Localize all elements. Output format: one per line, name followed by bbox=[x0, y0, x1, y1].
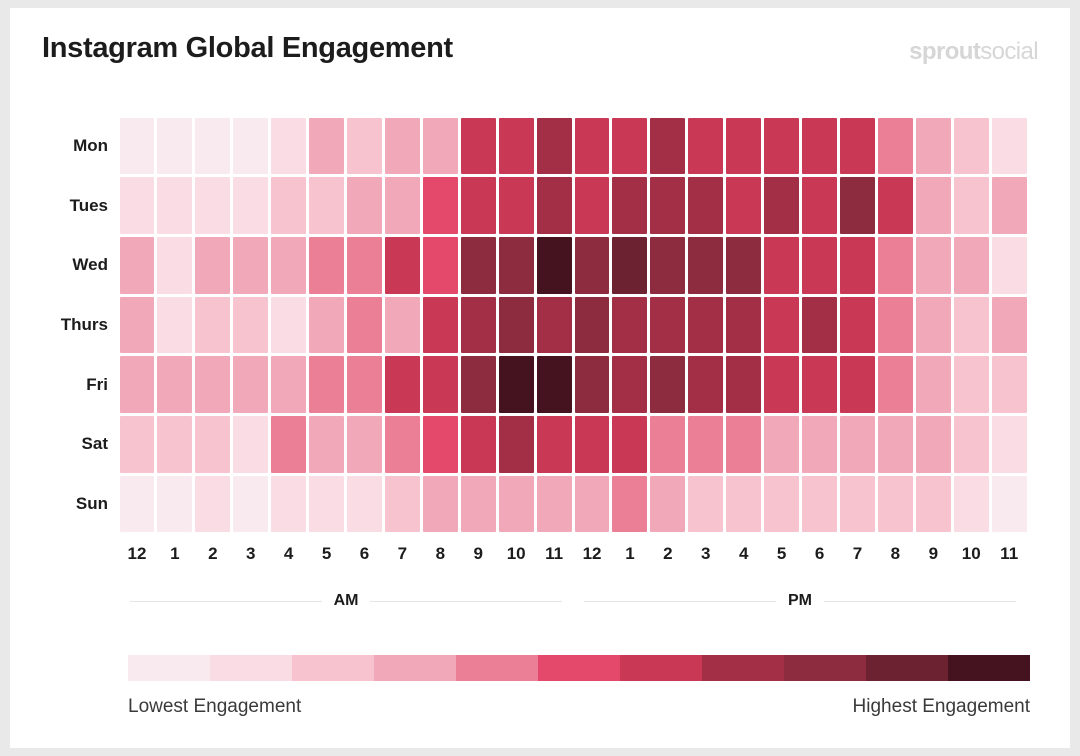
heatmap-cell bbox=[157, 118, 192, 175]
heatmap-cell bbox=[537, 297, 572, 354]
heatmap-cell bbox=[916, 237, 951, 294]
heatmap-cell bbox=[271, 177, 306, 234]
heatmap-cell bbox=[423, 237, 458, 294]
page-title: Instagram Global Engagement bbox=[42, 32, 453, 65]
heatmap-cell bbox=[575, 118, 610, 175]
heatmap-cell bbox=[612, 118, 647, 175]
heatmap-cell bbox=[423, 177, 458, 234]
legend-low-label: Lowest Engagement bbox=[128, 696, 301, 718]
legend-swatch bbox=[210, 655, 292, 681]
heatmap-cell bbox=[575, 416, 610, 473]
heatmap-cell bbox=[954, 237, 989, 294]
heatmap-cell bbox=[347, 177, 382, 234]
logo-regular-text: social bbox=[980, 38, 1038, 65]
heatmap-cell bbox=[461, 356, 496, 413]
heatmap-cell bbox=[764, 297, 799, 354]
am-rule-right bbox=[370, 601, 562, 602]
heatmap-cell bbox=[650, 476, 685, 533]
heatmap-cell bbox=[537, 177, 572, 234]
heatmap-cell bbox=[612, 237, 647, 294]
heatmap-cell bbox=[878, 118, 913, 175]
hour-tick: 9 bbox=[914, 544, 952, 578]
chart-header: Instagram Global Engagement sproutsocial bbox=[42, 32, 1038, 84]
heatmap-cell bbox=[461, 476, 496, 533]
heatmap-cell bbox=[233, 237, 268, 294]
heatmap-cell bbox=[461, 118, 496, 175]
heatmap-cell bbox=[461, 237, 496, 294]
heatmap-row: Tues bbox=[118, 176, 1028, 236]
hour-tick: 6 bbox=[801, 544, 839, 578]
hour-tick: 8 bbox=[421, 544, 459, 578]
heatmap-cell bbox=[726, 297, 761, 354]
am-group: AM bbox=[130, 588, 562, 614]
hour-tick: 4 bbox=[270, 544, 308, 578]
heatmap-cell bbox=[612, 416, 647, 473]
pm-label: PM bbox=[776, 592, 824, 610]
ampm-axis: AM PM bbox=[118, 588, 1028, 614]
heatmap-cell bbox=[688, 118, 723, 175]
heatmap-cell bbox=[764, 177, 799, 234]
heatmap-cell bbox=[233, 297, 268, 354]
heatmap-cell bbox=[195, 118, 230, 175]
heatmap-cell bbox=[650, 416, 685, 473]
heatmap-cell bbox=[120, 118, 155, 175]
hour-tick: 10 bbox=[952, 544, 990, 578]
heatmap-cell bbox=[575, 476, 610, 533]
heatmap-cell bbox=[157, 237, 192, 294]
hour-tick: 3 bbox=[687, 544, 725, 578]
heatmap-cell bbox=[537, 356, 572, 413]
heatmap-cell bbox=[878, 356, 913, 413]
hour-tick: 2 bbox=[649, 544, 687, 578]
heatmap-cell bbox=[537, 118, 572, 175]
am-rule-left bbox=[130, 601, 322, 602]
heatmap-cell bbox=[347, 356, 382, 413]
heatmap-cell bbox=[840, 416, 875, 473]
day-label-sat: Sat bbox=[22, 414, 108, 474]
heatmap-cell bbox=[423, 118, 458, 175]
heatmap-cell bbox=[195, 177, 230, 234]
heatmap-cell bbox=[575, 177, 610, 234]
heatmap-cell bbox=[233, 177, 268, 234]
heatmap-cell bbox=[954, 476, 989, 533]
heatmap-cell bbox=[840, 177, 875, 234]
hour-tick: 8 bbox=[876, 544, 914, 578]
legend-labels: Lowest Engagement Highest Engagement bbox=[128, 696, 1030, 724]
heatmap-cell bbox=[233, 118, 268, 175]
heatmap-cell bbox=[157, 297, 192, 354]
heatmap-cell bbox=[233, 356, 268, 413]
pm-rule-left bbox=[584, 601, 776, 602]
legend-swatch bbox=[948, 655, 1030, 681]
heatmap-cell bbox=[878, 177, 913, 234]
hour-tick: 5 bbox=[308, 544, 346, 578]
heatmap-cell bbox=[954, 416, 989, 473]
heatmap-cell bbox=[120, 476, 155, 533]
heatmap-cell bbox=[916, 476, 951, 533]
heatmap-cell bbox=[575, 297, 610, 354]
heatmap-cell bbox=[954, 356, 989, 413]
pm-group: PM bbox=[584, 588, 1016, 614]
hour-tick: 7 bbox=[383, 544, 421, 578]
heatmap-cell bbox=[650, 177, 685, 234]
heatmap-cell bbox=[309, 297, 344, 354]
heatmap-cell bbox=[423, 297, 458, 354]
day-label-thurs: Thurs bbox=[22, 295, 108, 355]
heatmap-row: Wed bbox=[118, 235, 1028, 295]
heatmap-cell bbox=[385, 177, 420, 234]
heatmap-row: Thurs bbox=[118, 295, 1028, 355]
heatmap-cell bbox=[802, 118, 837, 175]
legend-high-label: Highest Engagement bbox=[853, 696, 1030, 718]
sprout-social-logo: sproutsocial bbox=[909, 38, 1038, 66]
hour-tick: 10 bbox=[497, 544, 535, 578]
heatmap-cell bbox=[878, 416, 913, 473]
heatmap-cell bbox=[992, 177, 1027, 234]
heatmap-cell bbox=[840, 118, 875, 175]
heatmap-cell bbox=[347, 237, 382, 294]
hour-tick: 12 bbox=[573, 544, 611, 578]
heatmap-cell bbox=[385, 118, 420, 175]
day-label-tues: Tues bbox=[22, 176, 108, 236]
heatmap-cell bbox=[120, 416, 155, 473]
heatmap-cell bbox=[992, 118, 1027, 175]
legend-swatch bbox=[456, 655, 538, 681]
heatmap-cell bbox=[499, 177, 534, 234]
day-label-sun: Sun bbox=[22, 474, 108, 534]
heatmap-cell bbox=[688, 356, 723, 413]
heatmap-cell bbox=[650, 356, 685, 413]
hour-tick: 7 bbox=[839, 544, 877, 578]
heatmap-cell bbox=[840, 356, 875, 413]
heatmap-cell bbox=[461, 177, 496, 234]
heatmap-cell bbox=[802, 476, 837, 533]
heatmap-cell bbox=[650, 297, 685, 354]
heatmap-cell bbox=[120, 297, 155, 354]
heatmap-cell bbox=[309, 237, 344, 294]
heatmap-cell bbox=[688, 416, 723, 473]
heatmap-cell bbox=[992, 416, 1027, 473]
heatmap-cell bbox=[764, 356, 799, 413]
heatmap-cell bbox=[726, 416, 761, 473]
heatmap-cell bbox=[802, 356, 837, 413]
heatmap-cell bbox=[157, 416, 192, 473]
heatmap-cell bbox=[802, 237, 837, 294]
heatmap-cell bbox=[688, 177, 723, 234]
legend-swatch bbox=[784, 655, 866, 681]
legend-swatch bbox=[374, 655, 456, 681]
heatmap-cell bbox=[157, 177, 192, 234]
heatmap-cell bbox=[233, 416, 268, 473]
heatmap-cell bbox=[878, 476, 913, 533]
heatmap-cell bbox=[764, 476, 799, 533]
heatmap-row: Sat bbox=[118, 414, 1028, 474]
heatmap-cell bbox=[764, 118, 799, 175]
heatmap-cell bbox=[347, 118, 382, 175]
heatmap-cell bbox=[385, 416, 420, 473]
heatmap-cell bbox=[157, 356, 192, 413]
heatmap-cell bbox=[271, 297, 306, 354]
heatmap-cell bbox=[309, 476, 344, 533]
heatmap-cell bbox=[423, 356, 458, 413]
heatmap-cell bbox=[840, 297, 875, 354]
hour-tick: 11 bbox=[535, 544, 573, 578]
day-label-mon: Mon bbox=[22, 116, 108, 176]
heatmap-cell bbox=[120, 237, 155, 294]
heatmap-cell bbox=[423, 476, 458, 533]
heatmap-cell bbox=[612, 476, 647, 533]
heatmap-cell bbox=[688, 476, 723, 533]
heatmap-cell bbox=[309, 416, 344, 473]
legend-swatch bbox=[702, 655, 784, 681]
heatmap-cell bbox=[271, 416, 306, 473]
heatmap-grid: MonTuesWedThursFriSatSun bbox=[118, 116, 1028, 534]
day-label-fri: Fri bbox=[22, 355, 108, 415]
heatmap-cell bbox=[195, 416, 230, 473]
heatmap-row: Fri bbox=[118, 355, 1028, 415]
legend-swatch bbox=[292, 655, 374, 681]
heatmap-cell bbox=[802, 177, 837, 234]
heatmap-cell bbox=[347, 416, 382, 473]
heatmap-cell bbox=[120, 177, 155, 234]
heatmap-cell bbox=[650, 118, 685, 175]
heatmap-cell bbox=[309, 118, 344, 175]
heatmap-cell bbox=[916, 416, 951, 473]
heatmap-cell bbox=[537, 237, 572, 294]
heatmap-cell bbox=[499, 476, 534, 533]
hour-tick: 5 bbox=[763, 544, 801, 578]
heatmap-cell bbox=[195, 297, 230, 354]
heatmap-row: Sun bbox=[118, 474, 1028, 534]
heatmap-cell bbox=[764, 237, 799, 294]
heatmap-cell bbox=[840, 476, 875, 533]
heatmap-cell bbox=[271, 118, 306, 175]
legend-swatch bbox=[538, 655, 620, 681]
heatmap-cell bbox=[271, 237, 306, 294]
hour-tick: 11 bbox=[990, 544, 1028, 578]
heatmap-cell bbox=[537, 416, 572, 473]
heatmap-cell bbox=[802, 416, 837, 473]
heatmap-cell bbox=[916, 118, 951, 175]
heatmap-cell bbox=[726, 118, 761, 175]
heatmap-cell bbox=[499, 356, 534, 413]
heatmap-cell bbox=[120, 356, 155, 413]
hour-tick: 2 bbox=[194, 544, 232, 578]
color-scale-legend bbox=[128, 655, 1030, 681]
heatmap-cell bbox=[726, 237, 761, 294]
heatmap-cell bbox=[916, 177, 951, 234]
heatmap-cell bbox=[992, 356, 1027, 413]
heatmap-cell bbox=[840, 237, 875, 294]
day-label-wed: Wed bbox=[22, 235, 108, 295]
heatmap-cell bbox=[650, 237, 685, 294]
heatmap-cell bbox=[309, 356, 344, 413]
heatmap-cell bbox=[612, 356, 647, 413]
hour-tick: 1 bbox=[611, 544, 649, 578]
hour-tick: 1 bbox=[156, 544, 194, 578]
heatmap-cell bbox=[233, 476, 268, 533]
chart-card: Instagram Global Engagement sproutsocial… bbox=[10, 8, 1070, 748]
heatmap-cell bbox=[916, 356, 951, 413]
heatmap-row: Mon bbox=[118, 116, 1028, 176]
heatmap-cell bbox=[878, 297, 913, 354]
heatmap-cell bbox=[385, 237, 420, 294]
heatmap-cell bbox=[385, 297, 420, 354]
heatmap-cell bbox=[764, 416, 799, 473]
heatmap-cell bbox=[954, 297, 989, 354]
heatmap-cell bbox=[347, 476, 382, 533]
heatmap-cell bbox=[954, 118, 989, 175]
heatmap-cell bbox=[461, 416, 496, 473]
heatmap-cell bbox=[499, 237, 534, 294]
hour-tick: 9 bbox=[459, 544, 497, 578]
heatmap-cell bbox=[575, 356, 610, 413]
hour-tick: 6 bbox=[346, 544, 384, 578]
am-label: AM bbox=[322, 592, 371, 610]
heatmap-cell bbox=[992, 476, 1027, 533]
heatmap-cell bbox=[537, 476, 572, 533]
hour-tick: 3 bbox=[232, 544, 270, 578]
heatmap-cell bbox=[499, 416, 534, 473]
heatmap-cell bbox=[992, 237, 1027, 294]
heatmap-cell bbox=[195, 237, 230, 294]
hour-axis: 121234567891011121234567891011 bbox=[118, 544, 1028, 578]
heatmap-cell bbox=[309, 177, 344, 234]
hour-tick: 12 bbox=[118, 544, 156, 578]
heatmap-cell bbox=[271, 356, 306, 413]
heatmap-cell bbox=[688, 237, 723, 294]
legend-swatch bbox=[866, 655, 948, 681]
heatmap-cell bbox=[461, 297, 496, 354]
legend-swatch bbox=[128, 655, 210, 681]
heatmap-cell bbox=[726, 476, 761, 533]
logo-bold-text: sprout bbox=[909, 38, 980, 65]
hour-tick: 4 bbox=[725, 544, 763, 578]
heatmap-cell bbox=[385, 356, 420, 413]
heatmap-cell bbox=[726, 356, 761, 413]
heatmap-cell bbox=[916, 297, 951, 354]
heatmap-cell bbox=[954, 177, 989, 234]
heatmap-cell bbox=[499, 297, 534, 354]
legend-swatch bbox=[620, 655, 702, 681]
heatmap-cell bbox=[195, 356, 230, 413]
heatmap-cell bbox=[878, 237, 913, 294]
heatmap-cell bbox=[423, 416, 458, 473]
heatmap-cell bbox=[612, 297, 647, 354]
heatmap-cell bbox=[347, 297, 382, 354]
heatmap-cell bbox=[612, 177, 647, 234]
heatmap-cell bbox=[688, 297, 723, 354]
heatmap-cell bbox=[271, 476, 306, 533]
heatmap-cell bbox=[802, 297, 837, 354]
heatmap-cell bbox=[726, 177, 761, 234]
heatmap-cell bbox=[157, 476, 192, 533]
heatmap-cell bbox=[575, 237, 610, 294]
heatmap-cell bbox=[385, 476, 420, 533]
pm-rule-right bbox=[824, 601, 1016, 602]
heatmap-cell bbox=[195, 476, 230, 533]
heatmap-cell bbox=[499, 118, 534, 175]
heatmap-cell bbox=[992, 297, 1027, 354]
